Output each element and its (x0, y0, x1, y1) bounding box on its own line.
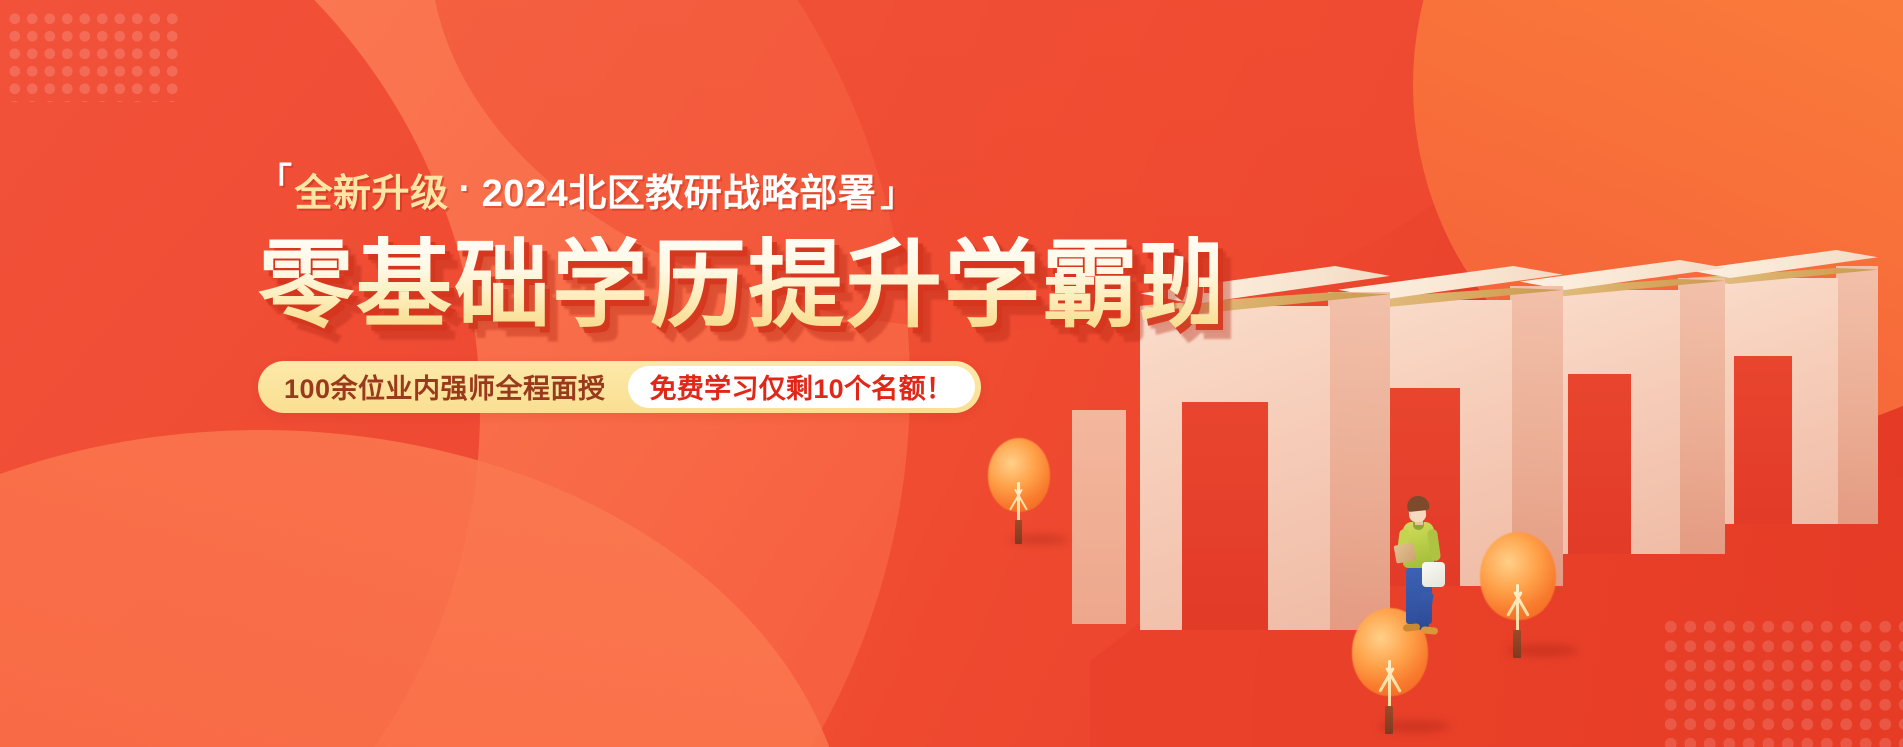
banner-subtitle: 「 全新升级 · 2024北区教研战略部署 」 (258, 160, 1218, 218)
tree-1 (988, 438, 1058, 548)
book-arch-side (1678, 278, 1725, 554)
student-shoe-left (1403, 623, 1421, 632)
book-arch-doorway (1568, 374, 1631, 554)
banner-content: 「 全新升级 · 2024北区教研战略部署 」 零基础学历提升学霸班 100余位… (258, 160, 1218, 413)
bracket-open-glyph: 「 (258, 164, 293, 198)
book-arch-side (1328, 292, 1390, 630)
student-shoulder-bag (1422, 562, 1445, 587)
subtitle-separator-dot: · (459, 168, 472, 211)
banner-highlight-pill: 100余位业内强师全程面授 免费学习仅剩10个名额！ (258, 361, 981, 413)
subtitle-plain-text: 2024北区教研战略部署 (482, 162, 877, 217)
illustration-scene (1140, 210, 1903, 747)
book-arch-doorway (1734, 356, 1792, 524)
book-arch-side (1836, 266, 1878, 524)
bracket-close-glyph: 」 (880, 178, 915, 212)
limited-seats-badge-label: 免费学习仅剩10个名额！ (650, 367, 954, 406)
tree-trunk (1385, 706, 1393, 734)
pill-primary-label: 100余位业内强师全程面授 (284, 367, 606, 406)
dot-grid-top-left (6, 10, 182, 102)
banner-headline: 零基础学历提升学霸班 (258, 236, 1218, 337)
book-arch-inner-panel (1072, 410, 1126, 624)
student-books (1394, 542, 1417, 563)
tree-trunk (1513, 630, 1521, 658)
background-shape-bottom-left (0, 430, 850, 747)
student-illustration (1385, 496, 1455, 646)
promo-banner: 「 全新升级 · 2024北区教研战略部署 」 零基础学历提升学霸班 100余位… (0, 0, 1903, 747)
tree-trunk (1015, 520, 1022, 544)
tree-2 (1480, 532, 1566, 660)
student-shoe-right (1421, 626, 1439, 635)
book-arch-doorway (1182, 402, 1268, 630)
subtitle-highlight-text: 全新升级 (295, 162, 449, 217)
student-hair (1406, 495, 1429, 512)
limited-seats-badge[interactable]: 免费学习仅剩10个名额！ (628, 366, 976, 408)
